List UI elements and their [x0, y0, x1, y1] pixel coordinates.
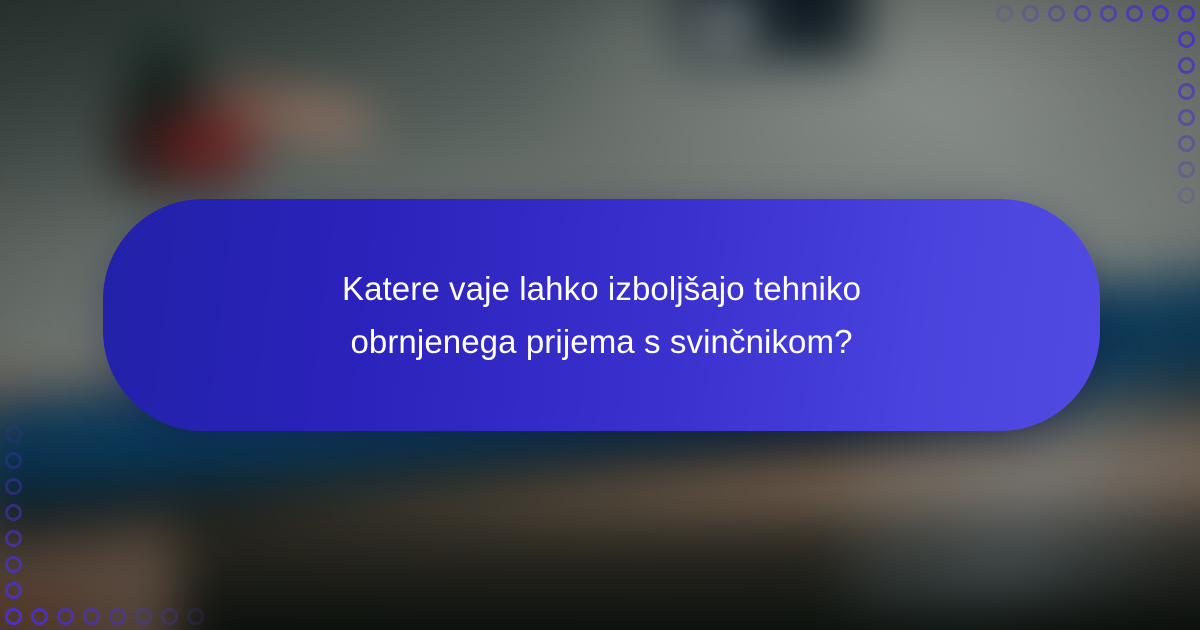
- decorative-dot: [1152, 5, 1169, 22]
- decorative-dot: [1178, 5, 1195, 22]
- decorative-dot: [1178, 109, 1195, 126]
- decorative-dot: [1100, 5, 1117, 22]
- decorative-dot: [31, 608, 48, 625]
- decorative-dot: [1178, 31, 1195, 48]
- decorative-dot: [5, 452, 22, 469]
- decorative-dot: [5, 608, 22, 625]
- question-line-2: obrnjenega prijema s svinčnikom?: [350, 323, 852, 360]
- decorative-dot: [187, 608, 204, 625]
- decorative-dot: [161, 608, 178, 625]
- decorative-dot: [1178, 57, 1195, 74]
- decorative-dot: [57, 608, 74, 625]
- decorative-dot: [1178, 187, 1195, 204]
- decorative-dot: [1178, 135, 1195, 152]
- decorative-dot: [1178, 83, 1195, 100]
- question-text: Katere vaje lahko izboljšajo tehniko obr…: [312, 262, 891, 369]
- decorative-dot: [109, 608, 126, 625]
- question-line-1: Katere vaje lahko izboljšajo tehniko: [342, 270, 861, 307]
- decorative-dot: [1048, 5, 1065, 22]
- decorative-dot: [1074, 5, 1091, 22]
- decorative-dot: [1126, 5, 1143, 22]
- decorative-dot: [135, 608, 152, 625]
- decorative-dot: [1022, 5, 1039, 22]
- decorative-dot: [5, 478, 22, 495]
- decorative-dot: [5, 426, 22, 443]
- poster-canvas: Katere vaje lahko izboljšajo tehniko obr…: [0, 0, 1200, 630]
- decorative-dot: [83, 608, 100, 625]
- decorative-dot: [5, 556, 22, 573]
- decorative-dot: [5, 530, 22, 547]
- decorative-dot: [5, 504, 22, 521]
- decorative-dot: [996, 5, 1013, 22]
- question-card: Katere vaje lahko izboljšajo tehniko obr…: [103, 199, 1100, 431]
- decorative-dot: [5, 582, 22, 599]
- decorative-dot: [1178, 161, 1195, 178]
